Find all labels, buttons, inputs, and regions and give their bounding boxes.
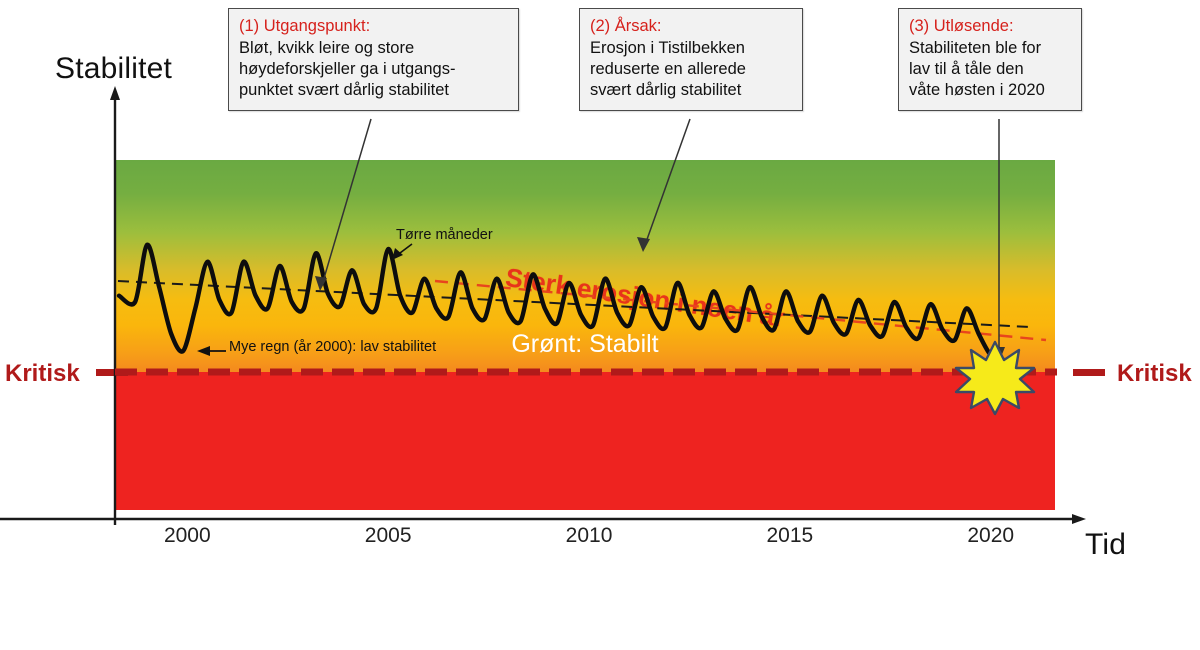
callout-title: (1) Utgangspunkt: [239,16,508,37]
dry-months-annotation: Tørre måneder [396,227,493,243]
callout-body: Bløt, kvikk leire og store høydeforskjel… [239,38,508,101]
y-axis-label: Stabilitet [55,52,172,86]
diagram-canvas: Grønt: Stabilt Rødt: Ikke Stabilt Stabil… [0,0,1200,570]
stability-band: Grønt: Stabilt Rødt: Ikke Stabilt [115,160,1055,510]
red-band-caption: Rødt: Ikke Stabilt [115,621,1055,650]
x-tick-label: 2020 [967,524,1014,548]
callout-title: (2) Årsak: [590,16,792,37]
unstable-red-band [115,372,1055,510]
callout-box-3[interactable]: (3) Utløsende: Stabiliteten ble for lav … [898,8,1082,111]
heavy-rain-annotation: Mye regn (år 2000): lav stabilitet [229,339,436,355]
x-tick-label: 2010 [566,524,613,548]
callout-box-1[interactable]: (1) Utgangspunkt: Bløt, kvikk leire og s… [228,8,519,111]
callout-body: Stabiliteten ble for lav til å tåle den … [909,38,1071,101]
x-tick-label: 2000 [164,524,211,548]
x-tick-label: 2015 [767,524,814,548]
x-axis-label: Tid [1085,528,1126,562]
critical-label-right: Kritisk [1117,360,1192,388]
critical-dash-left [96,369,128,376]
critical-label-left: Kritisk [5,360,80,388]
x-tick-label: 2005 [365,524,412,548]
callout-body: Erosjon i Tistilbekken reduserte en alle… [590,38,792,101]
callout-box-2[interactable]: (2) Årsak: Erosjon i Tistilbekken reduse… [579,8,803,111]
critical-dash-right [1073,369,1105,376]
callout-title: (3) Utløsende: [909,16,1071,37]
